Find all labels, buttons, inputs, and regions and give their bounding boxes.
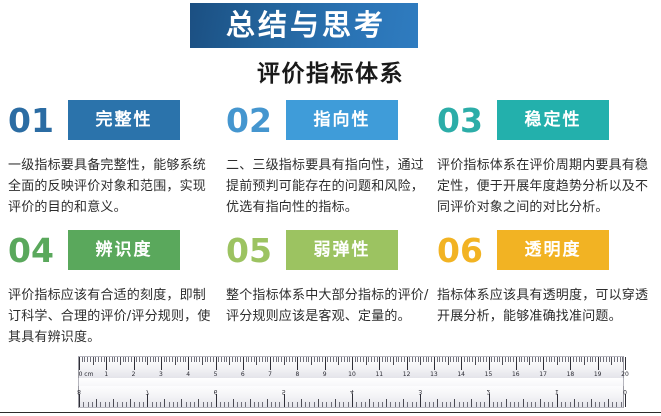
- ruler-tick: [508, 357, 509, 362]
- ruler-tick: [295, 357, 296, 362]
- ruler-tick: [123, 357, 124, 362]
- ruler-cm-label: 16: [512, 371, 520, 378]
- ruler-cm-label: 5: [214, 371, 218, 378]
- ruler-tick: [246, 357, 247, 362]
- ruler-tick: [281, 357, 282, 362]
- ruler-tick: [258, 402, 259, 407]
- ruler-tick: [221, 357, 222, 362]
- ruler-tick: [587, 402, 588, 407]
- ruler-tick: [284, 394, 285, 407]
- ruler-tick: [241, 402, 242, 407]
- ruler-cm-label: 10: [348, 371, 356, 378]
- ruler-tick: [235, 357, 236, 362]
- ruler-tick: [267, 357, 268, 362]
- indicator-number: 03: [437, 104, 497, 137]
- ruler-tick: [292, 402, 293, 407]
- ruler-tick: [404, 357, 405, 362]
- ruler-tick: [378, 402, 379, 407]
- ruler-tick: [288, 402, 289, 407]
- ruler-tick: [448, 357, 449, 365]
- ruler-tick: [554, 357, 555, 362]
- indicator-header: 05 弱弹性: [226, 226, 438, 274]
- indicator-header: 04 辨识度: [8, 226, 220, 274]
- ruler-tick: [297, 357, 298, 370]
- indicator-body-text: 一级指标要具备完整性，能够系统全面的反映评价对象和范围，实现评价的目的和意义。: [8, 155, 214, 218]
- ruler-tick: [100, 402, 101, 407]
- ruler-tick: [521, 357, 522, 362]
- ruler-tick: [510, 402, 511, 407]
- ruler-tick: [390, 357, 391, 362]
- ruler-tick: [139, 402, 140, 407]
- ruler-cm-label: 8: [295, 371, 299, 378]
- ruler-tick: [620, 357, 621, 362]
- ruler-tick: [552, 402, 553, 407]
- ruler-cm-label: 12: [403, 371, 411, 378]
- ruler-tick: [233, 399, 234, 407]
- ruler-cm-label: 14: [457, 371, 465, 378]
- indicator-tag-box: 完整性: [68, 100, 180, 140]
- ruler-tick: [330, 357, 331, 362]
- ruler-tick: [446, 402, 447, 407]
- ruler-tick: [483, 357, 484, 362]
- ruler-tick: [300, 357, 301, 362]
- ruler-tick: [437, 399, 438, 407]
- ruler-tick: [139, 357, 140, 362]
- ruler-tick: [595, 357, 596, 362]
- ruler-tick: [595, 402, 596, 407]
- ruler-tick: [360, 357, 361, 362]
- ruler-tick: [578, 402, 579, 407]
- ruler-tick: [232, 357, 233, 362]
- ruler-tick: [130, 399, 131, 407]
- ruler-cm-label: 17: [539, 371, 547, 378]
- ruler-tick: [150, 357, 151, 362]
- ruler-tick: [104, 357, 105, 362]
- ruler-tick: [224, 402, 225, 407]
- ruler-tick: [306, 357, 307, 362]
- ruler-tick: [532, 357, 533, 362]
- ruler-tick: [188, 357, 189, 370]
- ruler-tick: [322, 357, 323, 362]
- ruler-tick: [516, 357, 517, 370]
- ruler-tick: [590, 357, 591, 362]
- ruler-tick: [513, 357, 514, 362]
- ruler-cm-label: 0 cm: [79, 371, 94, 378]
- ruler-tick: [305, 402, 306, 407]
- indicator-number: 06: [437, 234, 497, 267]
- ruler-tick: [279, 402, 280, 407]
- ruler-tick: [459, 402, 460, 407]
- ruler-tick: [169, 357, 170, 362]
- ruler-tick: [433, 402, 434, 407]
- ruler-tick: [117, 357, 118, 362]
- ruler-tick: [568, 357, 569, 362]
- ruler-tick: [147, 357, 148, 365]
- ruler-tick: [196, 357, 197, 362]
- ruler-tick: [331, 402, 332, 407]
- ruler-tick: [612, 402, 613, 407]
- ruler-cm-label: 11: [375, 371, 383, 378]
- indicator-tag-box: 辨识度: [68, 230, 180, 270]
- ruler-tick: [489, 357, 490, 370]
- ruler-tick: [439, 357, 440, 362]
- ruler-tick: [592, 357, 593, 362]
- ruler-tick: [614, 357, 615, 362]
- ruler-inch-label: 5: [282, 388, 286, 395]
- ruler-tick: [309, 402, 310, 407]
- ruler-tick: [565, 357, 566, 362]
- ruler-image: 0 cm1234567891011121314151617181920 0123…: [78, 356, 624, 410]
- ruler-tick: [426, 357, 427, 362]
- ruler-tick: [292, 357, 293, 362]
- ruler-tick: [368, 357, 369, 362]
- ruler-tick: [453, 357, 454, 362]
- ruler-tick: [210, 357, 211, 362]
- ruler-tick: [562, 357, 563, 362]
- ruler-tick: [622, 357, 623, 362]
- ruler-tick: [256, 357, 257, 365]
- ruler-tick: [224, 357, 225, 362]
- ruler-tick: [524, 357, 525, 362]
- ruler-tick: [382, 402, 383, 407]
- ruler-tick: [158, 357, 159, 362]
- ruler-tick: [546, 357, 547, 362]
- ruler-tick: [603, 357, 604, 362]
- ruler-tick: [395, 402, 396, 407]
- ruler-cm-label: 19: [594, 371, 602, 378]
- ruler-tick: [570, 357, 571, 370]
- ruler-tick: [229, 357, 230, 365]
- ruler-tick: [278, 357, 279, 362]
- ruler-tick: [92, 402, 93, 407]
- ruler-tick: [625, 357, 626, 370]
- ruler-tick: [226, 357, 227, 362]
- ruler-tick: [442, 357, 443, 362]
- ruler-tick: [220, 402, 221, 407]
- ruler-tick: [349, 357, 350, 362]
- ruler-tick: [251, 357, 252, 362]
- indicator-number: 02: [226, 104, 286, 137]
- ruler-tick: [464, 357, 465, 362]
- ruler-tick: [450, 357, 451, 362]
- ruler-tick: [194, 357, 195, 362]
- ruler-tick: [396, 357, 397, 362]
- ruler-tick: [203, 402, 204, 407]
- ruler-tick: [101, 357, 102, 362]
- ruler-tick: [301, 399, 302, 407]
- indicator-tag-label: 稳定性: [525, 112, 582, 129]
- ruler-cm-label: 9: [323, 371, 327, 378]
- ruler-tick: [248, 357, 249, 362]
- ruler-tick: [599, 402, 600, 407]
- ruler-centimeter-scale: 0 cm1234567891011121314151617181920: [78, 356, 624, 378]
- ruler-tick: [202, 357, 203, 365]
- ruler-tick: [185, 357, 186, 362]
- ruler-tick: [467, 357, 468, 362]
- bottom-rule: [0, 412, 661, 413]
- ruler-tick: [90, 357, 91, 362]
- ruler-tick: [461, 357, 462, 370]
- ruler-tick: [134, 402, 135, 407]
- ruler-body: [78, 378, 624, 386]
- ruler-tick: [125, 357, 126, 362]
- ruler-tick: [415, 357, 416, 362]
- ruler-tick: [428, 357, 429, 362]
- ruler-tick: [254, 357, 255, 362]
- ruler-tick: [540, 357, 541, 362]
- indicator-number: 01: [8, 104, 68, 137]
- ruler-tick: [379, 357, 380, 370]
- ruler-tick: [365, 402, 366, 407]
- ruler-cm-label: 13: [430, 371, 438, 378]
- ruler-tick: [79, 357, 80, 370]
- ruler-inch-label: 6: [214, 388, 218, 395]
- ruler-tick: [514, 402, 515, 407]
- ruler-tick: [109, 357, 110, 362]
- ruler-tick: [518, 402, 519, 407]
- ruler-tick: [445, 357, 446, 362]
- ruler-inch-label: 3: [418, 388, 422, 395]
- ruler-tick: [403, 399, 404, 407]
- ruler-tick: [425, 402, 426, 407]
- ruler-tick: [199, 357, 200, 362]
- ruler-tick: [476, 402, 477, 407]
- indicator-item-04: 04 辨识度 评价指标应该有合适的刻度，即制订科学、合理的评价/评分规则，使其具…: [8, 226, 220, 348]
- indicator-tag-label: 指向性: [314, 112, 371, 129]
- ruler-tick: [576, 357, 577, 362]
- indicator-tag-label: 完整性: [96, 112, 153, 129]
- ruler-tick: [357, 357, 358, 362]
- ruler-tick: [463, 402, 464, 407]
- ruler-tick: [262, 357, 263, 362]
- ruler-tick: [486, 357, 487, 362]
- ruler-tick: [348, 402, 349, 407]
- ruler-inch-label: 1: [555, 388, 559, 395]
- ruler-tick: [565, 402, 566, 407]
- ruler-tick: [265, 357, 266, 362]
- ruler-tick: [191, 357, 192, 362]
- ruler-inch-label: 2: [487, 388, 491, 395]
- ruler-cm-label: 3: [159, 371, 163, 378]
- ruler-tick: [502, 357, 503, 365]
- ruler-tick: [478, 357, 479, 362]
- ruler-tick: [529, 357, 530, 365]
- ruler-tick: [136, 357, 137, 362]
- ruler-tick: [412, 357, 413, 362]
- ruler-tick: [608, 399, 609, 407]
- ruler-inch-label: 7: [145, 388, 149, 395]
- ruler-tick: [458, 357, 459, 362]
- ruler-tick: [84, 357, 85, 362]
- ruler-tick: [228, 402, 229, 407]
- ruler-tick: [557, 357, 558, 365]
- ruler-tick: [531, 402, 532, 407]
- ruler-tick: [393, 357, 394, 365]
- indicator-number: 05: [226, 234, 286, 267]
- ruler-tick: [454, 399, 455, 407]
- indicator-item-03: 03 稳定性 评价指标体系在评价周期内要具有稳定性，便于开展年度趋势分析以及不同…: [437, 96, 649, 218]
- ruler-tick: [606, 357, 607, 362]
- ruler-tick: [385, 357, 386, 362]
- indicator-item-01: 01 完整性 一级指标要具备完整性，能够系统全面的反映评价对象和范围，实现评价的…: [8, 96, 220, 218]
- ruler-cm-label: 2: [132, 371, 136, 378]
- ruler-tick: [93, 357, 94, 365]
- page-subtitle: 评价指标体系: [0, 54, 661, 88]
- ruler-tick: [347, 357, 348, 362]
- ruler-tick: [420, 357, 421, 365]
- ruler-tick: [501, 402, 502, 407]
- ruler-tick: [423, 357, 424, 362]
- ruler-tick: [79, 394, 80, 407]
- indicator-body-text: 指标体系应该具有透明度，可以穿透开展分析，能够准确找准问题。: [437, 285, 649, 327]
- indicator-item-02: 02 指向性 二、三级指标要具有指向性，通过提前预判可能存在的问题和风险，优选有…: [226, 96, 438, 218]
- ruler-tick: [519, 357, 520, 362]
- ruler-tick: [117, 402, 118, 407]
- ruler-tick: [344, 357, 345, 362]
- ruler-tick: [164, 357, 165, 362]
- ruler-tick: [418, 357, 419, 362]
- ruler-tick: [407, 357, 408, 370]
- ruler-tick: [308, 357, 309, 362]
- ruler-tick: [366, 357, 367, 365]
- ruler-tick: [173, 402, 174, 407]
- ruler-tick: [273, 357, 274, 362]
- ruler-tick: [557, 394, 558, 407]
- ruler-tick: [551, 357, 552, 362]
- ruler-tick: [326, 402, 327, 407]
- ruler-tick: [363, 357, 364, 362]
- ruler-tick: [570, 402, 571, 407]
- ruler-tick: [311, 357, 312, 365]
- ruler-tick: [582, 402, 583, 407]
- slide-canvas: 总结与思考 评价指标体系 01 完整性 一级指标要具备完整性，能够系统全面的反映…: [0, 0, 661, 416]
- ruler-tick: [409, 357, 410, 362]
- ruler-tick: [216, 357, 217, 370]
- ruler-tick: [398, 357, 399, 362]
- ruler-cm-label: 15: [485, 371, 493, 378]
- indicator-body-text: 二、三级指标要具有指向性，通过提前预判可能存在的问题和风险，优选有指向性的指标。: [226, 155, 432, 218]
- title-banner: 总结与思考: [190, 3, 418, 48]
- ruler-tick: [600, 357, 601, 362]
- ruler-tick: [584, 357, 585, 365]
- ruler-tick: [374, 357, 375, 362]
- ruler-tick: [407, 402, 408, 407]
- ruler-tick: [611, 357, 612, 365]
- ruler-tick: [369, 399, 370, 407]
- ruler-tick: [180, 357, 181, 362]
- ruler-tick: [318, 399, 319, 407]
- ruler-tick: [126, 402, 127, 407]
- ruler-tick: [549, 357, 550, 362]
- ruler-tick: [87, 357, 88, 362]
- ruler-tick: [164, 399, 165, 407]
- indicator-tag-box: 指向性: [286, 100, 398, 140]
- ruler-tick: [155, 357, 156, 362]
- ruler-tick: [161, 357, 162, 370]
- indicator-body-text: 评价指标体系在评价周期内要具有稳定性，便于开展年度趋势分析以及不同评价对象之间的…: [437, 155, 649, 218]
- ruler-tick: [207, 402, 208, 407]
- ruler-tick: [548, 402, 549, 407]
- ruler-tick: [205, 357, 206, 362]
- ruler-tick: [270, 357, 271, 370]
- ruler-tick: [322, 402, 323, 407]
- ruler-tick: [338, 357, 339, 365]
- ruler-tick: [289, 357, 290, 362]
- ruler-tick: [245, 402, 246, 407]
- ruler-tick: [609, 357, 610, 362]
- indicator-tag-box: 透明度: [497, 230, 609, 270]
- ruler-tick: [616, 402, 617, 407]
- ruler-tick: [175, 357, 176, 365]
- ruler-tick: [216, 394, 217, 407]
- ruler-tick: [96, 399, 97, 407]
- indicator-header: 06 透明度: [437, 226, 649, 274]
- ruler-tick: [456, 357, 457, 362]
- ruler-tick: [535, 402, 536, 407]
- indicator-tag-label: 弱弹性: [314, 242, 371, 259]
- ruler-tick: [475, 357, 476, 365]
- ruler-tick: [573, 357, 574, 362]
- ruler-tick: [317, 357, 318, 362]
- ruler-tick: [113, 399, 114, 407]
- ruler-tick: [211, 402, 212, 407]
- ruler-inch-label: 0: [623, 388, 627, 395]
- indicator-tag-label: 辨识度: [96, 242, 153, 259]
- ruler-tick: [194, 402, 195, 407]
- ruler-tick: [617, 357, 618, 362]
- ruler-tick: [82, 357, 83, 362]
- ruler-tick: [472, 357, 473, 362]
- ruler-cm-label: 18: [567, 371, 575, 378]
- ruler-tick: [604, 402, 605, 407]
- indicator-item-06: 06 透明度 指标体系应该具有透明度，可以穿透开展分析，能够准确找准问题。: [437, 226, 649, 327]
- ruler-tick: [579, 357, 580, 362]
- ruler-tick: [480, 402, 481, 407]
- ruler-cm-label: 6: [241, 371, 245, 378]
- ruler-tick: [493, 402, 494, 407]
- ruler-tick: [497, 402, 498, 407]
- ruler-tick: [356, 402, 357, 407]
- ruler-tick: [109, 402, 110, 407]
- ruler-tick: [183, 357, 184, 362]
- ruler-tick: [218, 357, 219, 362]
- ruler-tick: [469, 357, 470, 362]
- indicator-header: 01 完整性: [8, 96, 220, 144]
- indicator-item-05: 05 弱弹性 整个指标体系中大部分指标的评价/评分规则应该是客观、定量的。: [226, 226, 438, 327]
- ruler-tick: [535, 357, 536, 362]
- ruler-tick: [399, 402, 400, 407]
- ruler-tick: [297, 402, 298, 407]
- ruler-tick: [284, 357, 285, 365]
- ruler-inch-scale: 012345678: [78, 386, 624, 408]
- ruler-tick: [105, 402, 106, 407]
- indicator-header: 02 指向性: [226, 96, 438, 144]
- ruler-tick: [343, 402, 344, 407]
- ruler-inch-label: 8: [77, 388, 81, 395]
- ruler-tick: [275, 402, 276, 407]
- ruler-tick: [276, 357, 277, 362]
- indicator-tag-label: 透明度: [525, 242, 582, 259]
- ruler-tick: [523, 399, 524, 407]
- ruler-tick: [131, 357, 132, 362]
- ruler-tick: [543, 357, 544, 370]
- ruler-tick: [267, 399, 268, 407]
- ruler-tick: [484, 402, 485, 407]
- ruler-tick: [559, 357, 560, 362]
- ruler-tick: [561, 402, 562, 407]
- ruler-tick: [412, 402, 413, 407]
- ruler-tick: [598, 357, 599, 370]
